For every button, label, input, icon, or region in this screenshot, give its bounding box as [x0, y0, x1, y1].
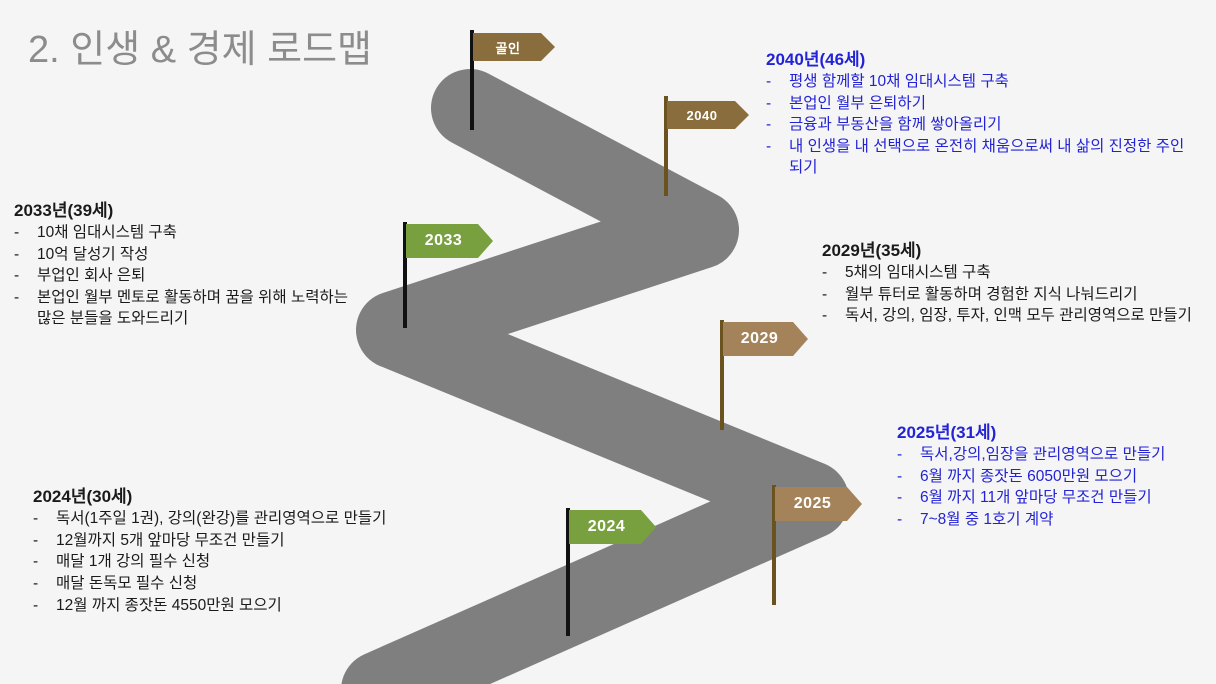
bullet-dash: -	[33, 596, 38, 617]
milestone-list: -독서(1주일 1권), 강의(완강)를 관리영역으로 만들기 -12월까지 5…	[33, 509, 553, 616]
flag-text: 2033	[425, 232, 463, 250]
milestone-heading: 2029년(35세)	[822, 240, 1202, 261]
flag-2025: 2025	[772, 485, 882, 605]
flag-text: 2025	[794, 495, 832, 513]
list-item-text: 부업인 회사 은퇴	[37, 267, 145, 284]
flag-goal: 골인	[470, 30, 580, 130]
list-item: -7~8월 중 1호기 계약	[897, 510, 1197, 531]
milestone-block-2040: 2040년(46세) -평생 함께할 10채 임대시스템 구축 -본업인 월부 …	[766, 49, 1186, 179]
flag-label-2040: 2040	[667, 101, 749, 129]
bullet-dash: -	[33, 531, 38, 552]
flag-2024: 2024	[566, 508, 676, 636]
list-item-text: 독서(1주일 1권), 강의(완강)를 관리영역으로 만들기	[56, 510, 386, 527]
list-item: -금융과 부동산을 함께 쌓아올리기	[766, 115, 1186, 136]
bullet-dash: -	[822, 285, 827, 306]
list-item-text: 7~8월 중 1호기 계약	[920, 511, 1053, 528]
bullet-dash: -	[822, 263, 827, 284]
list-item-text: 10억 달성기 작성	[37, 246, 148, 263]
list-item: -12월 까지 종잣돈 4550만원 모으기	[33, 596, 553, 617]
list-item: -6월 까지 11개 앞마당 무조건 만들기	[897, 488, 1197, 509]
bullet-dash: -	[897, 445, 902, 466]
bullet-dash: -	[14, 266, 19, 287]
list-item: -월부 튜터로 활동하며 경험한 지식 나눠드리기	[822, 285, 1202, 306]
bullet-dash: -	[766, 94, 771, 115]
list-item-text: 6월 까지 종잣돈 6050만원 모으기	[920, 468, 1137, 485]
milestone-block-2029: 2029년(35세) -5채의 임대시스템 구축 -월부 튜터로 활동하며 경험…	[822, 240, 1202, 328]
list-item-text: 내 인생을 내 선택으로 온전히 채움으로써 내 삶의 진정한 주인 되기	[789, 138, 1184, 176]
page-title: 2. 인생 & 경제 로드맵	[28, 18, 372, 73]
list-item: -독서(1주일 1권), 강의(완강)를 관리영역으로 만들기	[33, 509, 553, 530]
slide-canvas: 2. 인생 & 경제 로드맵 골인 2040 2033 2029 2025	[0, 0, 1216, 684]
milestone-block-2024: 2024년(30세) -독서(1주일 1권), 강의(완강)를 관리영역으로 만…	[33, 486, 553, 617]
list-item: -내 인생을 내 선택으로 온전히 채움으로써 내 삶의 진정한 주인 되기	[766, 137, 1186, 178]
list-item: -매달 1개 강의 필수 신청	[33, 552, 553, 573]
bullet-dash: -	[14, 245, 19, 266]
bullet-dash: -	[766, 115, 771, 136]
bullet-dash: -	[33, 552, 38, 573]
list-item-text: 본업인 월부 멘토로 활동하며 꿈을 위해 노력하는 많은 분들을 도와드리기	[37, 289, 348, 327]
list-item-text: 월부 튜터로 활동하며 경험한 지식 나눠드리기	[845, 286, 1137, 303]
list-item-text: 금융과 부동산을 함께 쌓아올리기	[789, 116, 1002, 133]
bullet-dash: -	[897, 467, 902, 488]
list-item-text: 본업인 월부 은퇴하기	[789, 95, 926, 112]
list-item: -5채의 임대시스템 구축	[822, 263, 1202, 284]
list-item: -본업인 월부 은퇴하기	[766, 94, 1186, 115]
flag-text: 2024	[588, 518, 626, 536]
list-item: -매달 돈독모 필수 신청	[33, 574, 553, 595]
bullet-dash: -	[766, 137, 771, 158]
flag-label-goal: 골인	[473, 33, 555, 61]
flag-text: 2040	[687, 108, 718, 123]
milestone-heading: 2033년(39세)	[14, 200, 349, 221]
list-item-text: 6월 까지 11개 앞마당 무조건 만들기	[920, 489, 1152, 506]
list-item: -10억 달성기 작성	[14, 245, 349, 266]
bullet-dash: -	[14, 223, 19, 244]
bullet-dash: -	[766, 72, 771, 93]
list-item: -평생 함께할 10채 임대시스템 구축	[766, 72, 1186, 93]
milestone-heading: 2025년(31세)	[897, 422, 1197, 443]
list-item-text: 10채 임대시스템 구축	[37, 224, 177, 241]
milestone-list: -10채 임대시스템 구축 -10억 달성기 작성 -부업인 회사 은퇴 -본업…	[14, 223, 349, 329]
list-item-text: 12월까지 5개 앞마당 무조건 만들기	[56, 532, 284, 549]
milestone-list: -평생 함께할 10채 임대시스템 구축 -본업인 월부 은퇴하기 -금융과 부…	[766, 72, 1186, 178]
milestone-block-2025: 2025년(31세) -독서,강의,임장을 관리영역으로 만들기 -6월 까지 …	[897, 422, 1197, 532]
bullet-dash: -	[822, 306, 827, 327]
list-item-text: 5채의 임대시스템 구축	[845, 264, 991, 281]
flag-text: 2029	[741, 330, 779, 348]
flag-text: 골인	[496, 38, 521, 57]
bullet-dash: -	[897, 488, 902, 509]
list-item-text: 독서, 강의, 임장, 투자, 인맥 모두 관리영역으로 만들기	[845, 307, 1192, 324]
flag-label-2033: 2033	[406, 224, 493, 258]
list-item: -10채 임대시스템 구축	[14, 223, 349, 244]
bullet-dash: -	[14, 288, 19, 309]
flag-label-2029: 2029	[723, 322, 808, 356]
milestone-heading: 2040년(46세)	[766, 49, 1186, 70]
list-item-text: 매달 돈독모 필수 신청	[56, 575, 197, 592]
flag-2033: 2033	[403, 222, 513, 328]
bullet-dash: -	[33, 509, 38, 530]
list-item: -12월까지 5개 앞마당 무조건 만들기	[33, 531, 553, 552]
list-item: -부업인 회사 은퇴	[14, 266, 349, 287]
list-item: -6월 까지 종잣돈 6050만원 모으기	[897, 467, 1197, 488]
milestone-heading: 2024년(30세)	[33, 486, 553, 507]
flag-2029: 2029	[720, 320, 830, 430]
bullet-dash: -	[33, 574, 38, 595]
bullet-dash: -	[897, 510, 902, 531]
list-item: -본업인 월부 멘토로 활동하며 꿈을 위해 노력하는 많은 분들을 도와드리기	[14, 288, 349, 329]
list-item: -독서, 강의, 임장, 투자, 인맥 모두 관리영역으로 만들기	[822, 306, 1202, 327]
flag-2040: 2040	[664, 96, 774, 196]
list-item: -독서,강의,임장을 관리영역으로 만들기	[897, 445, 1197, 466]
list-item-text: 매달 1개 강의 필수 신청	[56, 553, 210, 570]
milestone-block-2033: 2033년(39세) -10채 임대시스템 구축 -10억 달성기 작성 -부업…	[14, 200, 349, 330]
list-item-text: 평생 함께할 10채 임대시스템 구축	[789, 73, 1009, 90]
milestone-list: -5채의 임대시스템 구축 -월부 튜터로 활동하며 경험한 지식 나눠드리기 …	[822, 263, 1202, 327]
list-item-text: 12월 까지 종잣돈 4550만원 모으기	[56, 597, 282, 614]
milestone-list: -독서,강의,임장을 관리영역으로 만들기 -6월 까지 종잣돈 6050만원 …	[897, 445, 1197, 530]
list-item-text: 독서,강의,임장을 관리영역으로 만들기	[920, 446, 1165, 463]
flag-label-2024: 2024	[569, 510, 656, 544]
flag-label-2025: 2025	[775, 487, 862, 521]
